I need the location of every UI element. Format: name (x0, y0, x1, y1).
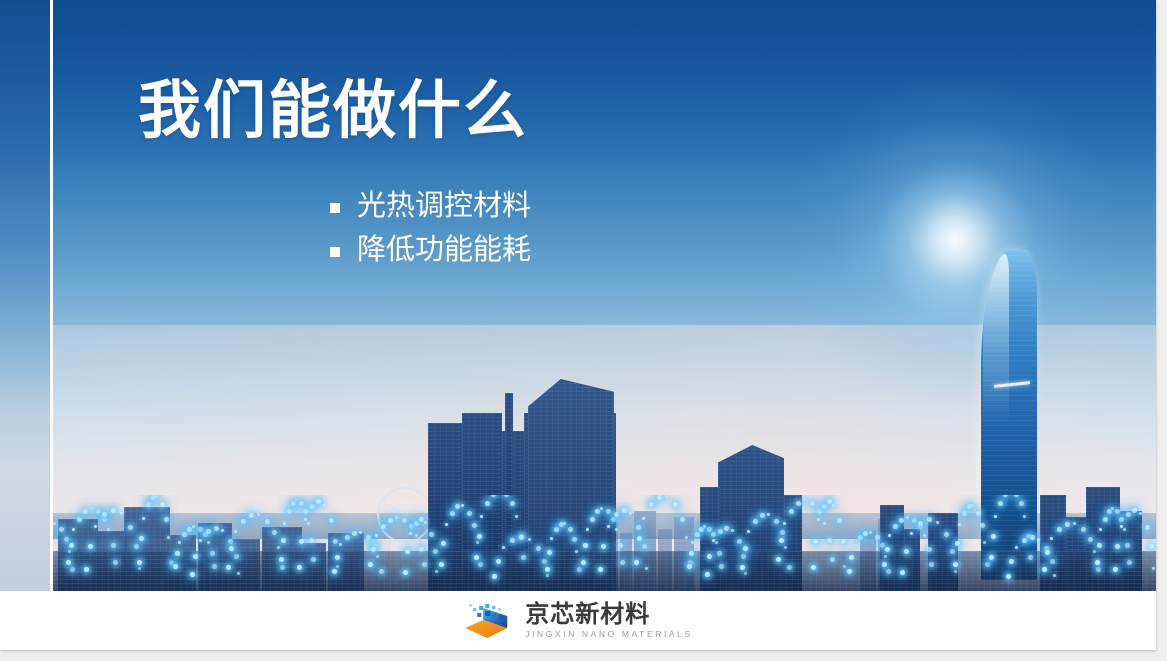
network-dot (206, 529, 211, 534)
network-dot (955, 541, 960, 546)
network-dot (257, 513, 260, 516)
network-dot (504, 495, 509, 497)
network-dot (615, 528, 618, 531)
network-dot (69, 543, 74, 548)
network-dot (265, 519, 270, 524)
network-dot (545, 567, 550, 572)
network-dot (645, 567, 648, 570)
network-dot (329, 518, 334, 523)
network-dot (102, 517, 107, 522)
network-dot (837, 518, 842, 523)
network-dot (299, 539, 304, 544)
network-dot (1132, 508, 1137, 513)
network-dot (822, 504, 827, 509)
network-dot (575, 550, 578, 553)
network-dot (221, 529, 224, 532)
network-dot (53, 522, 56, 525)
network-dot (433, 549, 438, 554)
network-dot (1009, 559, 1014, 564)
network-dot (492, 574, 497, 579)
network-dot (287, 509, 292, 514)
network-dot (985, 562, 990, 567)
network-dot (929, 562, 934, 567)
network-dot (740, 565, 745, 570)
network-dot (280, 565, 285, 570)
network-dot (1093, 550, 1096, 553)
network-dot (155, 495, 158, 498)
network-dot (1149, 544, 1154, 549)
network-dot (316, 499, 321, 504)
network-dot (912, 518, 917, 523)
network-dot (491, 495, 496, 497)
network-dot (283, 522, 286, 525)
network-dot (685, 536, 688, 539)
network-dot (368, 562, 373, 567)
network-dot (707, 527, 712, 532)
network-dot (480, 515, 483, 518)
network-dot (803, 498, 806, 501)
network-dot (83, 509, 88, 514)
network-dot (379, 569, 384, 574)
network-dot (712, 539, 715, 542)
network-dot (1053, 574, 1056, 577)
network-dot (376, 555, 379, 558)
network-dot (774, 519, 779, 524)
network-dot (1123, 528, 1126, 531)
network-dot (780, 530, 785, 535)
slide-title: 我们能做什么 (138, 78, 528, 144)
network-dot (429, 532, 434, 537)
network-dot (614, 512, 619, 517)
network-dot (741, 554, 746, 559)
network-dot (66, 560, 71, 565)
network-dot (817, 518, 820, 521)
network-dot (1050, 559, 1055, 564)
network-dot (1088, 537, 1093, 542)
network-dot (1115, 544, 1120, 549)
network-dot (813, 539, 818, 544)
network-dot (600, 507, 603, 510)
presentation-page: 我们能做什么 光热调控材料 降低功能能耗 (0, 0, 1167, 661)
network-dot (295, 498, 298, 501)
network-dot (193, 554, 198, 559)
network-dot (724, 526, 729, 531)
network-dot (832, 504, 835, 507)
network-dot (142, 517, 145, 520)
network-dot (94, 525, 97, 528)
network-dot (1022, 538, 1027, 543)
network-dot (607, 525, 610, 528)
logo-mark-svg (463, 602, 515, 640)
network-dot (352, 531, 357, 536)
network-dot (695, 532, 700, 537)
network-dot (1095, 560, 1100, 565)
network-dot (336, 565, 339, 568)
network-dot (767, 513, 770, 516)
left-vertical-rule (50, 0, 53, 591)
network-dot (277, 546, 280, 549)
left-accent-band (0, 0, 50, 591)
network-dot (68, 550, 71, 553)
network-dot (402, 518, 407, 523)
network-dot (59, 527, 64, 532)
network-dot (84, 567, 89, 572)
network-dot (827, 538, 832, 543)
network-dot (642, 544, 647, 549)
network-dot (160, 502, 165, 507)
network-dot (581, 560, 586, 565)
network-dot (637, 536, 642, 541)
network-dot (366, 535, 371, 540)
square-bullet-icon (330, 247, 340, 257)
network-dot (182, 532, 187, 537)
network-dot (90, 507, 93, 510)
network-dot (953, 562, 958, 567)
network-dot (519, 535, 524, 540)
network-dot (359, 531, 362, 534)
network-dot (884, 555, 887, 558)
network-dot (77, 517, 82, 522)
network-dot (335, 555, 340, 560)
network-dot (869, 531, 872, 534)
network-dot (546, 574, 549, 577)
network-dot (893, 524, 898, 529)
network-dot (849, 555, 854, 560)
network-dot (234, 554, 239, 559)
network-dot (502, 546, 505, 549)
network-dot (1111, 507, 1114, 510)
network-dot (395, 516, 398, 519)
network-dot (297, 565, 302, 570)
network-dot (634, 560, 639, 565)
network-dot (789, 509, 794, 514)
network-dot (547, 550, 552, 555)
network-dot (303, 509, 308, 514)
network-dot (1065, 522, 1070, 527)
network-dot (1037, 538, 1040, 541)
network-dot (137, 560, 142, 565)
network-dot (1119, 517, 1124, 522)
network-dot (234, 530, 237, 533)
network-dot (1125, 543, 1130, 548)
network-dot (461, 504, 464, 507)
network-dot (550, 537, 553, 540)
network-dot (138, 567, 141, 570)
network-dot (1057, 527, 1062, 532)
network-dot (622, 508, 627, 513)
network-dot (375, 534, 378, 537)
network-dot (753, 519, 758, 524)
network-dot (496, 559, 501, 564)
network-dot (572, 537, 577, 542)
network-dot (173, 564, 178, 569)
network-dot (528, 538, 531, 541)
network-dot (904, 549, 909, 554)
network-dot (70, 567, 75, 572)
network-dot (226, 565, 231, 570)
network-dot (128, 525, 133, 530)
network-dot (409, 532, 412, 535)
network-dot (450, 511, 455, 516)
network-dot (568, 527, 573, 532)
network-dot (424, 521, 427, 524)
network-dot (439, 562, 444, 567)
network-dot (927, 517, 932, 522)
network-dot (863, 531, 868, 536)
network-dot (823, 522, 826, 525)
network-dot (515, 515, 518, 518)
network-dot (422, 562, 427, 567)
network-dot (1152, 567, 1155, 570)
list-item: 降低功能能耗 (330, 236, 531, 265)
network-dot (989, 555, 994, 560)
slide: 我们能做什么 光热调控材料 降低功能能耗 (0, 0, 1156, 650)
network-dot (403, 570, 408, 575)
network-dot (485, 501, 490, 506)
network-dot (885, 547, 890, 552)
network-dot (784, 546, 787, 549)
network-dot (944, 532, 949, 537)
network-dot (291, 501, 296, 506)
network-dot (388, 518, 393, 523)
network-dot (323, 504, 326, 507)
network-dot (776, 557, 781, 562)
network-dot (958, 523, 961, 526)
network-dot (936, 521, 939, 524)
network-dot (214, 526, 219, 531)
network-dot (249, 513, 254, 518)
network-dot (620, 560, 625, 565)
network-dot (64, 537, 69, 542)
bullet-label: 降低功能能耗 (357, 236, 531, 265)
network-dot (980, 523, 985, 528)
network-dot (796, 501, 801, 506)
network-dot (719, 564, 724, 569)
network-dot (747, 530, 750, 533)
network-dot (476, 541, 479, 544)
network-dot (629, 512, 632, 515)
network-dot (715, 541, 718, 544)
network-dot (1014, 495, 1019, 497)
network-dot-overlay (0, 495, 1156, 591)
logo-company-name-en: JINGXIN NANO MATERIALS (525, 629, 693, 639)
network-dot (899, 518, 904, 523)
network-dot (192, 525, 195, 528)
network-dot (1145, 525, 1150, 530)
network-dot (472, 523, 477, 528)
network-dot (96, 509, 101, 514)
network-dot (1042, 567, 1047, 572)
network-dot (718, 529, 723, 534)
network-dot (210, 551, 215, 556)
network-dot (332, 569, 337, 574)
network-dot (687, 564, 692, 569)
network-dot (199, 539, 202, 542)
network-dot (445, 523, 448, 526)
network-dot (190, 572, 195, 577)
network-dot (164, 517, 169, 522)
network-dot (1023, 515, 1026, 518)
network-dot (1126, 512, 1131, 517)
network-dot (414, 521, 419, 526)
network-dot (467, 511, 472, 516)
logo-wordmark: 京芯新材料 JINGXIN NANO MATERIALS (525, 601, 693, 639)
network-dot (510, 538, 515, 543)
bullet-list: 光热调控材料 降低功能能耗 (330, 192, 531, 280)
network-dot (521, 555, 526, 560)
network-dot (198, 527, 203, 532)
network-dot (847, 569, 852, 574)
network-dot (563, 522, 566, 525)
network-dot (409, 524, 414, 529)
network-dot (810, 501, 815, 506)
network-dot (139, 536, 144, 541)
network-dot (554, 527, 559, 532)
network-dot (167, 536, 170, 539)
network-dot (858, 535, 863, 540)
network-dot (888, 534, 891, 537)
network-dot (598, 567, 603, 572)
network-dot (229, 546, 234, 551)
network-dot (994, 515, 997, 518)
network-dot (882, 562, 887, 567)
network-dot (611, 517, 616, 522)
network-dot (1099, 528, 1102, 531)
network-dot (783, 522, 786, 525)
network-dot (760, 513, 765, 518)
network-dot (134, 544, 139, 549)
network-dot (811, 565, 816, 570)
network-dot (1115, 509, 1120, 514)
network-dot (595, 509, 600, 514)
network-dot (111, 543, 116, 548)
network-dot (345, 535, 350, 540)
network-dot (906, 516, 909, 519)
network-dot (601, 544, 606, 549)
network-dot (711, 532, 716, 537)
network-dot (744, 572, 747, 575)
network-dot (843, 565, 846, 568)
network-dot (510, 501, 515, 506)
network-dot (333, 539, 338, 544)
network-dot (743, 546, 748, 551)
network-dot (880, 543, 885, 548)
network-dot (691, 541, 694, 544)
network-dot (705, 572, 710, 577)
network-dot (419, 547, 424, 552)
network-dot (954, 570, 957, 573)
logo-company-name-cn: 京芯新材料 (525, 601, 693, 627)
network-dot (1097, 543, 1102, 548)
network-dot (1019, 501, 1024, 506)
network-dot (707, 554, 712, 559)
network-dot (542, 559, 547, 564)
network-dot (642, 517, 645, 520)
network-dot (923, 534, 926, 537)
network-dot (228, 539, 233, 544)
network-dot (689, 551, 694, 556)
network-dot (886, 569, 891, 574)
network-dot (983, 541, 986, 544)
network-dot (415, 534, 418, 537)
network-dot (107, 528, 110, 531)
network-dot (618, 543, 623, 548)
network-dot (455, 504, 460, 509)
network-dot (1120, 525, 1123, 528)
network-dot (307, 522, 310, 525)
jingxin-logo-mark-icon (463, 602, 515, 640)
network-dot (1103, 517, 1108, 522)
network-dot (586, 528, 589, 531)
network-dot (435, 570, 438, 573)
network-dot (636, 525, 641, 530)
network-dot (665, 495, 668, 498)
network-dot (1073, 522, 1076, 525)
network-dot (405, 549, 410, 554)
network-dot (72, 528, 75, 531)
network-dot (241, 519, 246, 524)
network-dot (478, 562, 483, 567)
network-dot (311, 557, 316, 562)
network-dot (477, 534, 482, 539)
network-dot (1096, 567, 1101, 572)
network-dot (900, 570, 905, 575)
network-dot (962, 511, 967, 516)
network-dot (178, 541, 181, 544)
network-dot (187, 527, 192, 532)
network-dot (1050, 537, 1053, 540)
network-dot (381, 524, 386, 529)
network-dot (371, 547, 376, 552)
network-dot (817, 509, 822, 514)
list-item: 光热调控材料 (330, 192, 531, 221)
network-dot (111, 508, 116, 513)
network-dot (590, 517, 595, 522)
network-dot (830, 557, 835, 562)
network-dot (304, 518, 307, 521)
hero-background-image: 我们能做什么 光热调控材料 降低功能能耗 (0, 0, 1156, 591)
network-dot (113, 560, 118, 565)
network-dot (1107, 509, 1112, 514)
network-dot (279, 557, 284, 562)
network-dot (212, 564, 217, 569)
network-dot (88, 544, 93, 549)
network-dot (737, 539, 742, 544)
network-dot (281, 538, 286, 543)
network-dot (175, 551, 180, 556)
network-dot (1006, 574, 1011, 579)
network-dot (875, 535, 880, 540)
network-dot (1015, 546, 1018, 549)
network-dot (309, 538, 314, 543)
network-dot (673, 502, 678, 507)
network-dot (120, 512, 123, 515)
network-dot (419, 517, 424, 522)
network-dot (971, 504, 974, 507)
slide-footer: 京芯新材料 JINGXIN NANO MATERIALS (0, 591, 1156, 650)
network-dot (441, 541, 446, 546)
network-dot (950, 549, 955, 554)
network-dot (649, 502, 654, 507)
network-dot (577, 567, 582, 572)
network-dot (680, 517, 685, 522)
network-dot (910, 532, 913, 535)
network-dot (918, 521, 923, 526)
network-dot (841, 539, 846, 544)
network-dot (927, 547, 932, 552)
network-dot (717, 551, 722, 556)
network-dot (779, 538, 784, 543)
